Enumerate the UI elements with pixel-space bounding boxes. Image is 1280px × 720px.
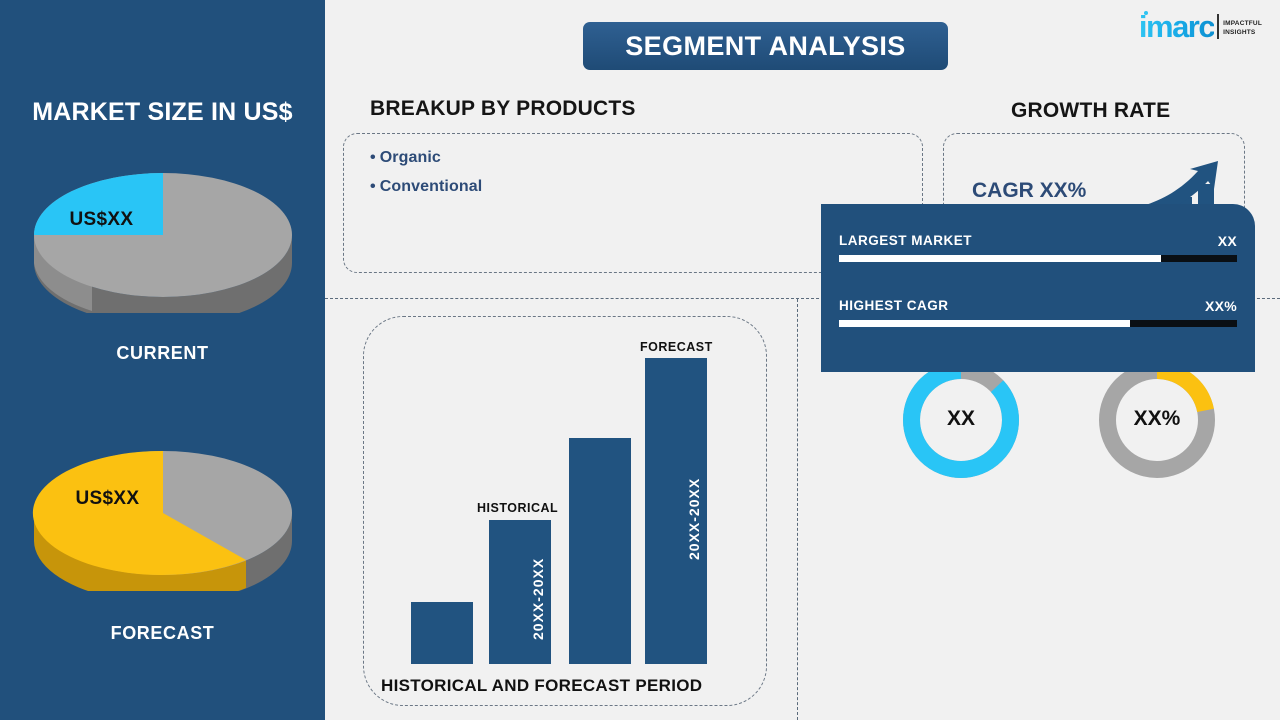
stat-row-largest-market: LARGEST MARKET XX: [839, 232, 1237, 262]
bullet-icon: •: [370, 178, 376, 195]
forecast-pie-3d: US$XX: [32, 441, 294, 591]
stat-progress-track: [839, 255, 1237, 262]
logo-tagline: IMPACTFUL INSIGHTS: [1223, 19, 1262, 39]
forecast-annotation: FORECAST: [640, 340, 713, 354]
current-pie-label: CURRENT: [0, 343, 325, 364]
market-size-sidebar: MARKET SIZE IN US$ US$XX CURRENT: [0, 0, 325, 720]
bar-2-historical: 20XX-20XX: [489, 520, 551, 664]
forecast-pie-label: FORECAST: [0, 623, 325, 644]
stat-progress-fill: [839, 320, 1130, 327]
bar-2-range-label: 20XX-20XX: [530, 558, 546, 640]
bar-3: [569, 438, 631, 664]
key-stats-panel: LARGEST MARKET XX HIGHEST CAGR XX%: [821, 204, 1255, 372]
logo-dot-icon: [1144, 11, 1148, 15]
logo-tagline-line1: IMPACTFUL: [1223, 20, 1262, 27]
bullet-icon: •: [370, 149, 376, 166]
stat-progress-fill: [839, 255, 1161, 262]
current-pie-svg: [32, 163, 294, 313]
market-volume-donut-value: XX: [878, 407, 1044, 431]
historical-annotation: HISTORICAL: [477, 501, 558, 515]
stat-value: XX%: [1205, 298, 1237, 314]
logo-divider: [1217, 14, 1219, 39]
stat-label: HIGHEST CAGR: [839, 298, 949, 313]
products-list: •Organic •Conventional: [370, 143, 482, 201]
product-label: Organic: [380, 149, 441, 166]
logo-tagline-line2: INSIGHTS: [1223, 29, 1255, 36]
product-item-organic[interactable]: •Organic: [370, 143, 482, 172]
page-title: SEGMENT ANALYSIS: [583, 22, 948, 70]
stat-row-highest-cagr: HIGHEST CAGR XX%: [839, 297, 1237, 327]
current-pie-3d: US$XX: [32, 163, 294, 313]
stat-value: XX: [1218, 233, 1237, 249]
cagr-line-1: CAGR XX%: [972, 176, 1096, 206]
segment-analysis-main: SEGMENT ANALYSIS imarc IMPACTFUL INSIGHT…: [325, 0, 1280, 720]
bar-chart-axis-label: HISTORICAL AND FORECAST PERIOD: [381, 676, 702, 696]
sidebar-title: MARKET SIZE IN US$: [0, 98, 325, 127]
stat-progress-track: [839, 320, 1237, 327]
forecast-pie-svg: [32, 441, 294, 591]
stat-label: LARGEST MARKET: [839, 233, 972, 248]
products-heading: BREAKUP BY PRODUCTS: [370, 97, 636, 121]
logo-wordmark: imarc: [1139, 14, 1214, 41]
market-share-donut-value: XX%: [1074, 407, 1240, 431]
imarc-logo: imarc IMPACTFUL INSIGHTS: [1139, 14, 1262, 41]
page-title-text: SEGMENT ANALYSIS: [625, 31, 905, 62]
current-pie-value: US$XX: [70, 209, 134, 231]
product-item-conventional[interactable]: •Conventional: [370, 172, 482, 201]
current-market-size-chart: US$XX CURRENT: [0, 163, 325, 364]
vertical-divider: [797, 299, 798, 720]
forecast-pie-value: US$XX: [76, 488, 140, 510]
product-label: Conventional: [380, 178, 483, 195]
bar-1: [411, 602, 473, 664]
growth-rate-heading: GROWTH RATE: [1011, 99, 1170, 123]
bar-4-range-label: 20XX-20XX: [686, 478, 702, 560]
forecast-market-size-chart: US$XX FORECAST: [0, 441, 325, 644]
bar-4-forecast: 20XX-20XX: [645, 358, 707, 664]
